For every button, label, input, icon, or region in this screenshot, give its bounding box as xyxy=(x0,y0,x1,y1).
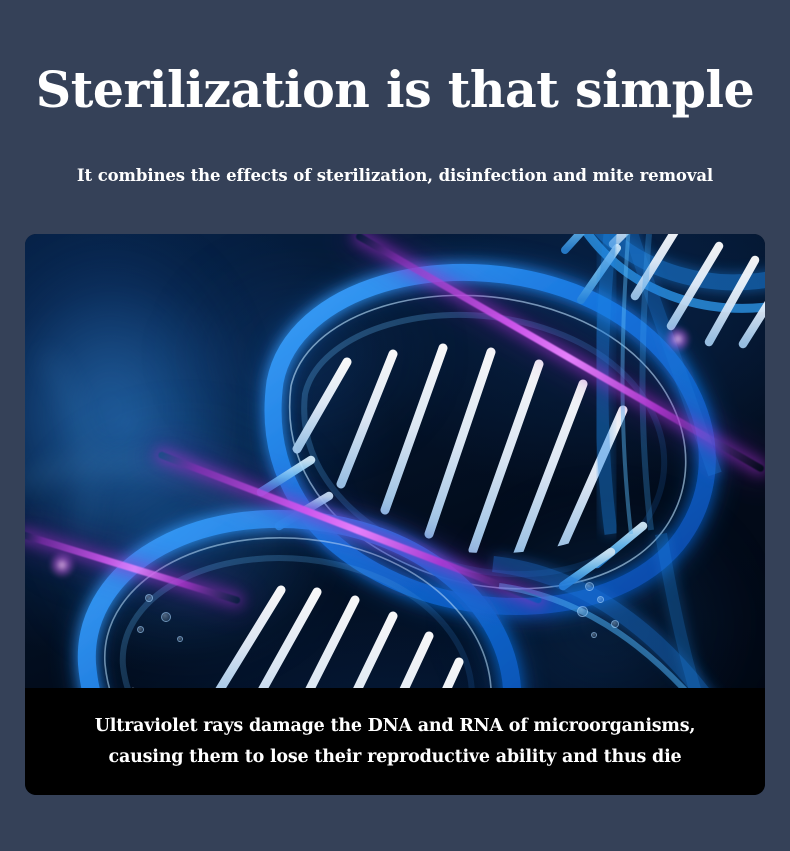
bubble xyxy=(611,620,619,628)
page-subtitle: It combines the effects of sterilization… xyxy=(0,164,790,188)
bubble xyxy=(145,594,153,602)
image-caption-overlay: Ultraviolet rays damage the DNA and RNA … xyxy=(25,688,765,795)
bubble xyxy=(137,626,144,633)
bubble xyxy=(577,606,588,617)
bubble xyxy=(585,582,594,591)
laser-spark xyxy=(665,326,691,352)
dna-background-strands xyxy=(25,354,275,534)
caption-line-1: Ultraviolet rays damage the DNA and RNA … xyxy=(95,715,696,737)
bubble xyxy=(177,636,183,642)
dna-loop-upper xyxy=(261,272,707,606)
laser-spark xyxy=(49,552,75,578)
page-title: Sterilization is that simple xyxy=(8,60,782,120)
caption-line-2: causing them to lose their reproductive … xyxy=(109,746,682,768)
bubble xyxy=(597,596,604,603)
bubble xyxy=(161,612,171,622)
hero-image-panel: Ultraviolet rays damage the DNA and RNA … xyxy=(25,234,765,795)
bubble xyxy=(591,632,597,638)
